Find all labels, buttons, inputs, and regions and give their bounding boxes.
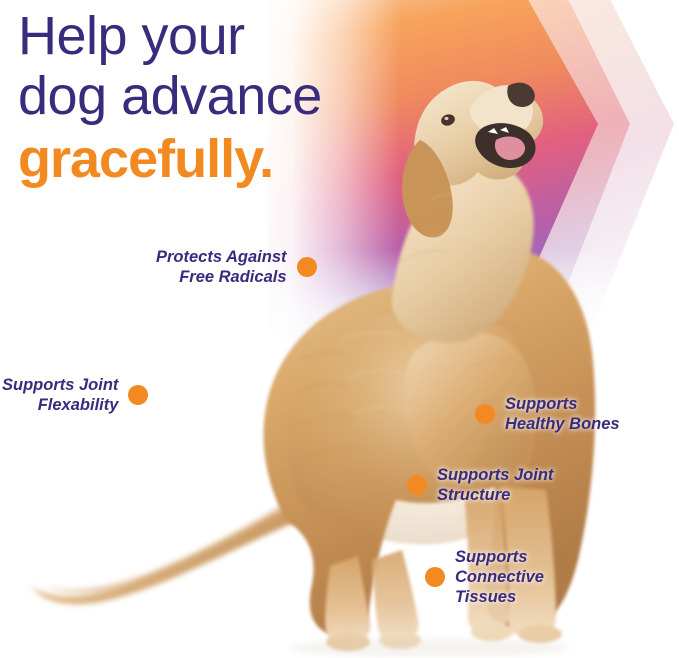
callout-protects-free-radicals: Protects Against Free Radicals xyxy=(156,247,317,287)
headline-line-1: Help your xyxy=(18,6,448,66)
callout-label: Supports Connective Tissues xyxy=(455,547,544,607)
callout-label: Supports Joint Structure xyxy=(437,465,553,505)
callout-label: Protects Against Free Radicals xyxy=(156,247,287,287)
callout-label: Supports Healthy Bones xyxy=(505,394,620,434)
callout-label: Supports Joint Flexability xyxy=(2,375,118,415)
callout-supports-joint-flexability: Supports Joint Flexability xyxy=(2,375,148,415)
callout-dot-icon xyxy=(475,404,495,424)
dog-hind-legs xyxy=(325,550,421,651)
callout-dot-icon xyxy=(297,257,317,277)
callout-supports-joint-structure: Supports Joint Structure xyxy=(407,465,553,505)
callout-dot-icon xyxy=(128,385,148,405)
marketing-poster: Help your dog advance gracefully. xyxy=(0,0,679,658)
callout-supports-connective-tissues: Supports Connective Tissues xyxy=(425,547,544,607)
headline-accent-word: gracefully. xyxy=(18,128,448,190)
dog-tail xyxy=(30,492,302,604)
headline-block: Help your dog advance gracefully. xyxy=(18,6,448,190)
callout-supports-healthy-bones: Supports Healthy Bones xyxy=(475,394,620,434)
callout-dot-icon xyxy=(425,567,445,587)
headline-line-2: dog advance xyxy=(18,66,448,126)
callout-dot-icon xyxy=(407,475,427,495)
